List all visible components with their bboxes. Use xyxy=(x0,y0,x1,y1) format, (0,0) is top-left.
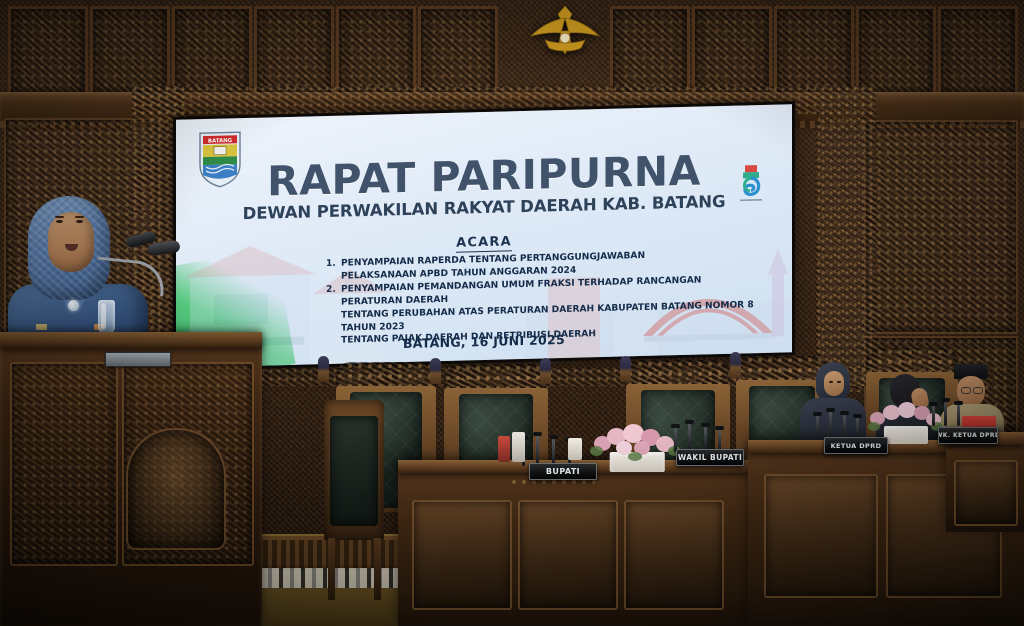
agenda-number: 1. xyxy=(326,258,337,284)
podium-emblem xyxy=(126,428,226,550)
nameplate-wakil-ketua-dprd: WK. KETUA DPRD xyxy=(938,427,998,444)
podium-plaque xyxy=(105,352,171,367)
led-presentation-screen: BATANG RAPAT PARIPURNA DEWAN PERWAKILAN … xyxy=(176,104,792,368)
nameplate-ketua-dprd: KETUA DPRD xyxy=(824,437,888,454)
rail-finial xyxy=(620,356,631,382)
nameplate-label: WAKIL BUPATI xyxy=(678,453,742,462)
nameplate-wakil-bupati: WAKIL BUPATI xyxy=(676,449,744,466)
wooden-podium xyxy=(0,332,262,626)
desk-microphones xyxy=(812,408,870,438)
bupati-desk xyxy=(398,460,750,626)
nameplate-label: KETUA DPRD xyxy=(831,442,882,450)
svg-text:BATANG: BATANG xyxy=(208,138,233,145)
speaker-brooch xyxy=(68,300,79,311)
rail-finial xyxy=(318,356,329,382)
side-desk xyxy=(946,432,1024,532)
rail-finial xyxy=(730,352,741,378)
uniform-badge xyxy=(36,324,47,330)
garuda-pancasila-emblem xyxy=(525,0,605,58)
tissue-box xyxy=(512,432,525,462)
rail-finial xyxy=(430,358,441,384)
meeting-hall-photograph: BATANG RAPAT PARIPURNA DEWAN PERWAKILAN … xyxy=(0,0,1024,626)
nameplate-bupati: BUPATI xyxy=(529,463,597,480)
podium-microphone xyxy=(96,236,182,306)
speaker-face xyxy=(48,212,94,272)
desk-microphones xyxy=(670,420,734,452)
aisle-chair xyxy=(316,400,392,600)
drinking-glass xyxy=(98,300,115,334)
table-item xyxy=(568,438,582,460)
nameplate-label: WK. KETUA DPRD xyxy=(938,432,998,439)
rail-finial xyxy=(540,358,551,384)
nameplate-label: BUPATI xyxy=(546,467,580,476)
table-bottle xyxy=(498,436,510,462)
